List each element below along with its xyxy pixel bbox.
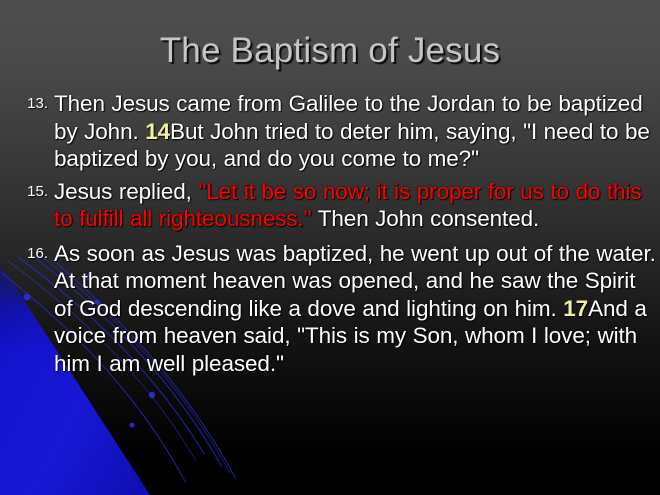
- slide-canvas: The Baptism of Jesus 13. Then Jesus came…: [0, 0, 660, 495]
- verse-text-run: Jesus replied,: [54, 179, 198, 204]
- verse-list: 13. Then Jesus came from Galilee to the …: [12, 90, 657, 381]
- list-marker: 15.: [14, 183, 48, 201]
- verse-number-17: 17: [563, 296, 588, 321]
- verse-paragraph-15: Jesus replied, "Let it be so now; it is …: [54, 178, 657, 233]
- slide-title: The Baptism of Jesus: [0, 30, 660, 72]
- verse-paragraph-16: As soon as Jesus was baptized, he went u…: [54, 240, 657, 378]
- list-item: 16. As soon as Jesus was baptized, he we…: [12, 240, 657, 378]
- verse-number-14: 14: [145, 119, 170, 144]
- list-marker: 13.: [14, 95, 48, 113]
- verse-text-run: Then John consented.: [312, 206, 540, 231]
- list-marker: 16.: [14, 245, 48, 263]
- list-item: 13. Then Jesus came from Galilee to the …: [12, 90, 657, 173]
- list-item: 15. Jesus replied, "Let it be so now; it…: [12, 178, 657, 233]
- verse-paragraph-13: Then Jesus came from Galilee to the Jord…: [54, 90, 657, 173]
